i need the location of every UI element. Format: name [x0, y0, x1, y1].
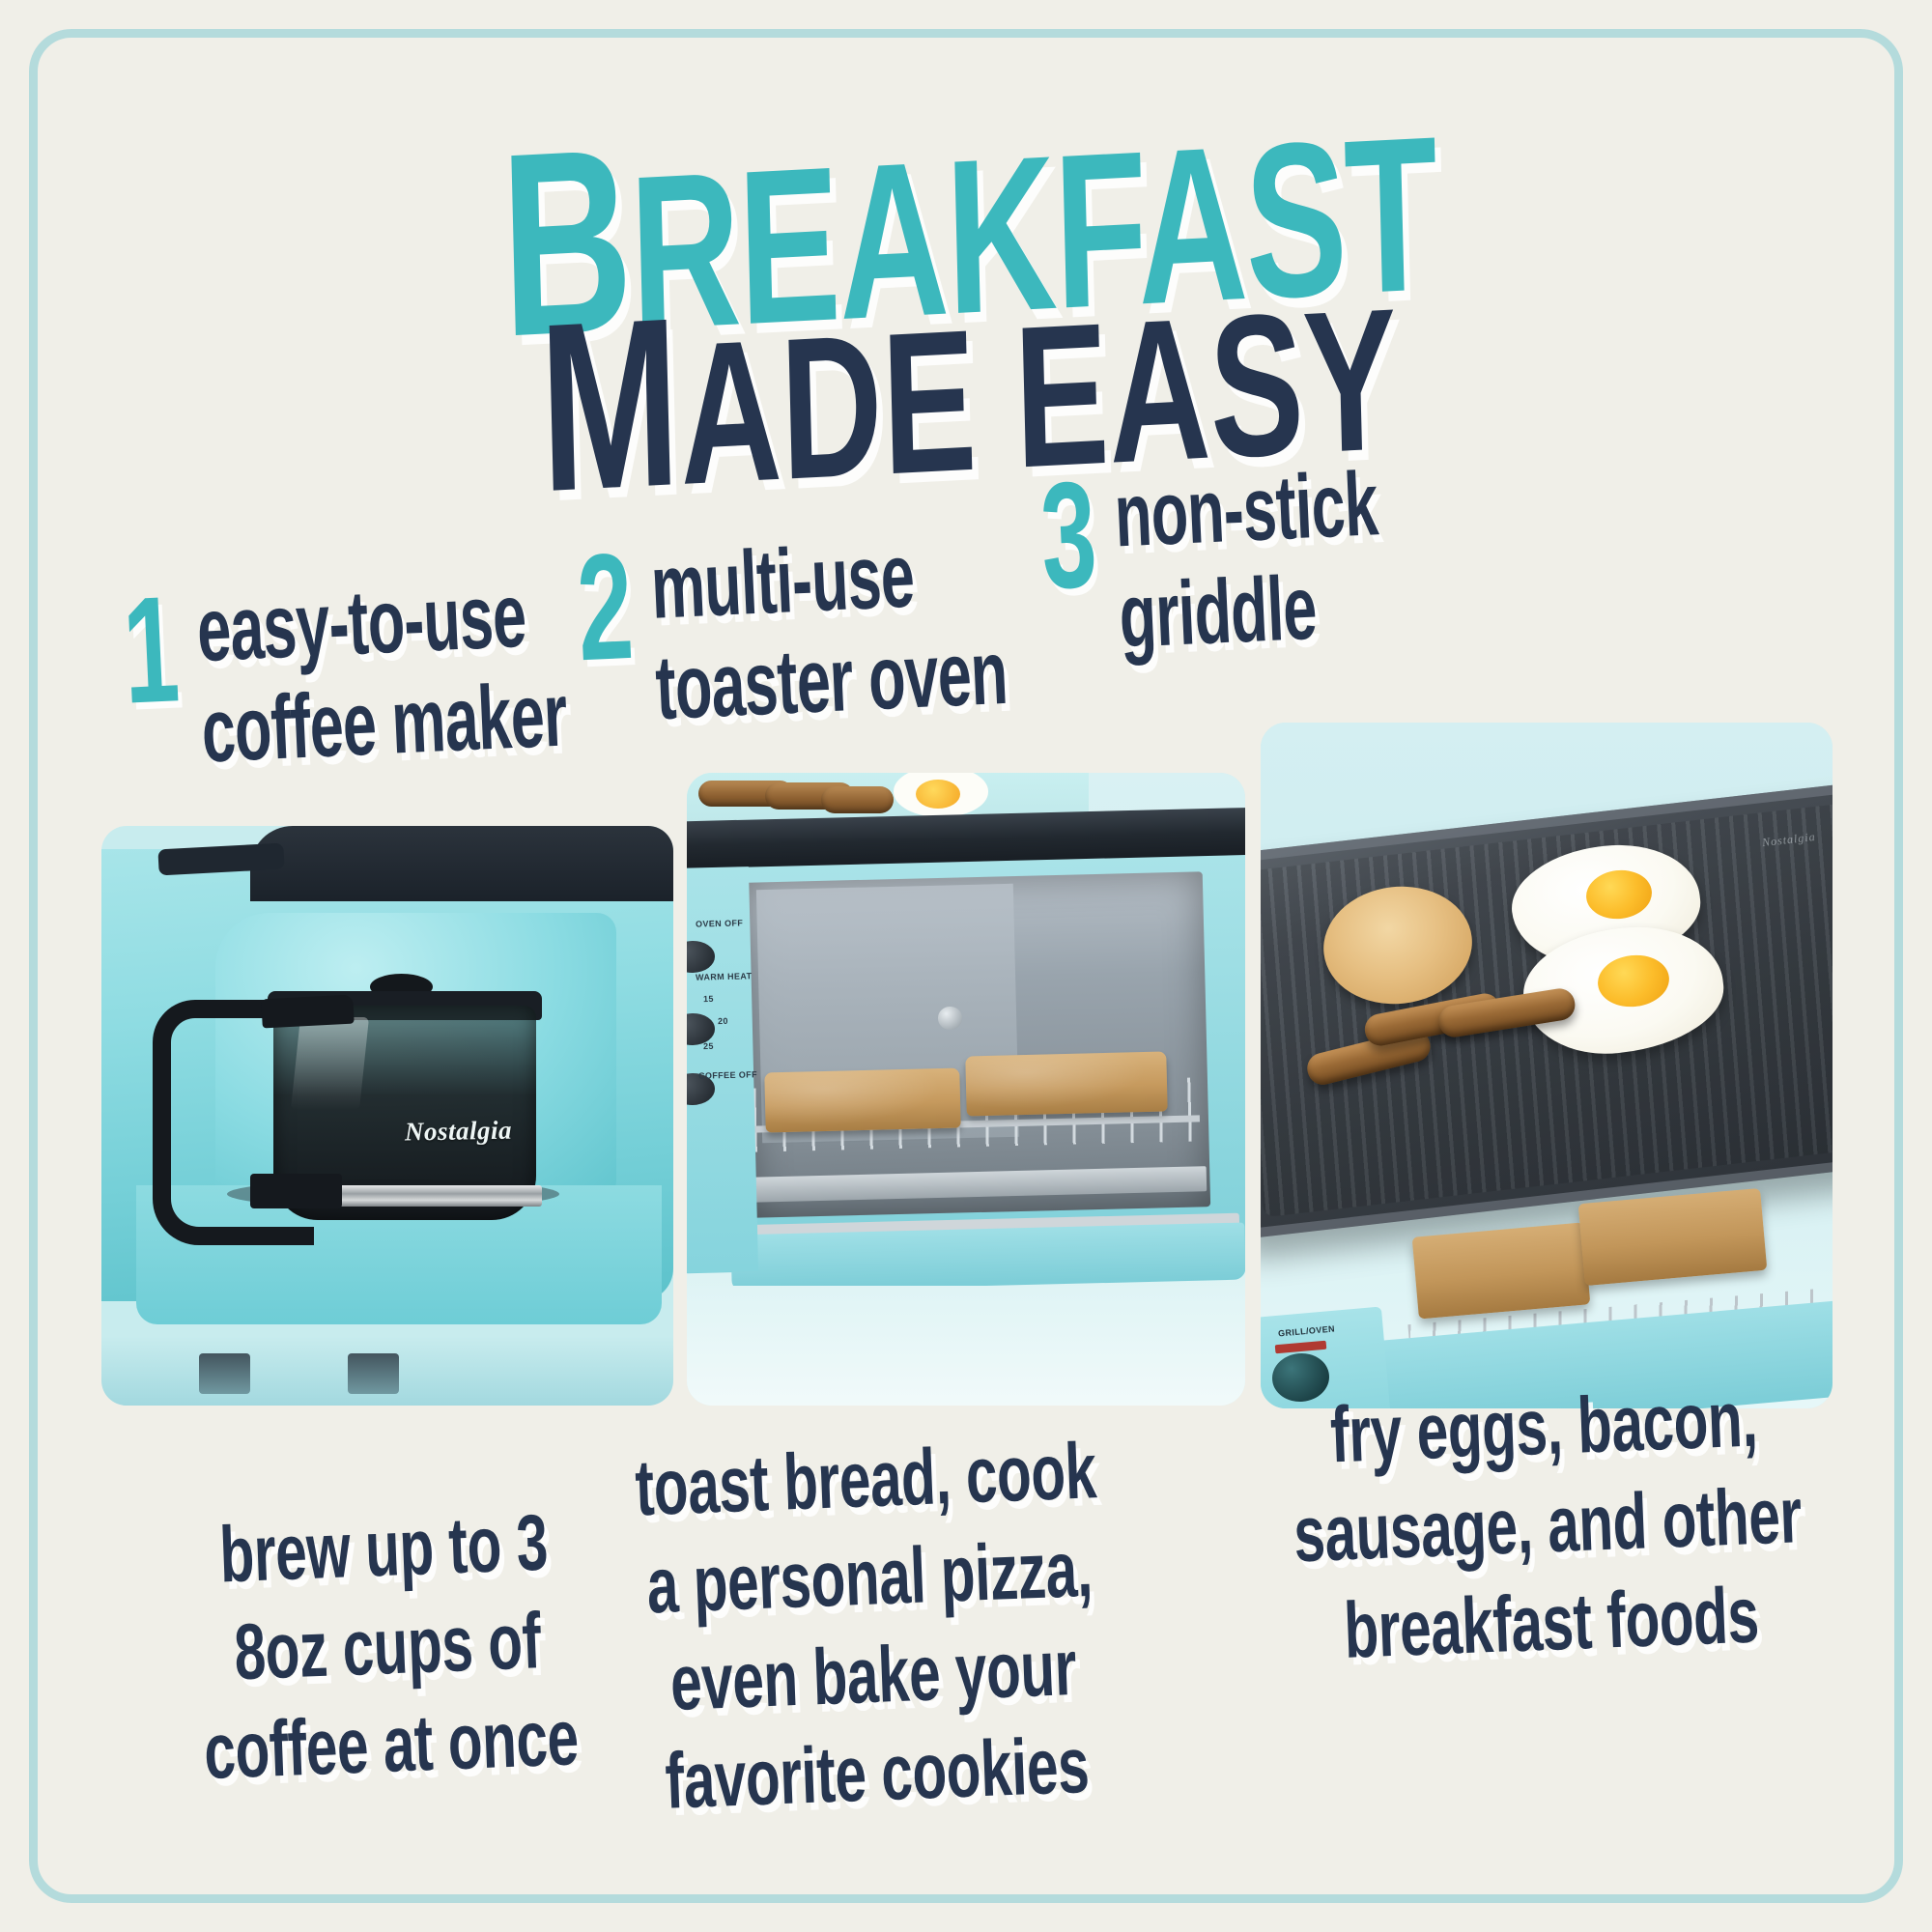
caption-text-2: toast bread, cook a personal pizza, even… [585, 1420, 1157, 1833]
feature-heading-1: 1 easy-to-use coffee maker [121, 561, 608, 733]
feature-label-1: easy-to-use coffee maker [195, 563, 569, 781]
coffee-maker-photo: Nostalgia [101, 826, 673, 1406]
toaster-oven-ground-reflection [687, 1286, 1245, 1406]
toast-slice [764, 1067, 961, 1132]
coffee-maker-handle-top-joint [261, 995, 354, 1029]
control-label-timer-15: 15 [703, 994, 714, 1004]
control-label-coffee-off: COFFEE OFF [697, 1069, 756, 1080]
coffee-maker-ground-shadow [101, 1336, 673, 1406]
page-title: BREAKFAST MADE EASY [0, 114, 1932, 423]
title-line2-capital: M [537, 268, 683, 542]
coffee-maker-top-lid [250, 826, 673, 901]
sausage-link [821, 786, 894, 813]
coffee-maker-handle-bottom-joint [250, 1174, 342, 1208]
toaster-oven-photo: OVEN OFF WARM HEAT 15 20 25 COFFEE OFF [687, 773, 1245, 1406]
nostalgia-brand-logo: Nostalgia [404, 1114, 576, 1147]
feature-caption-3: fry eggs, bacon, sausage, and other brea… [1215, 1400, 1880, 1651]
control-label-oven-off: OVEN OFF [696, 918, 743, 928]
control-label-timer-25: 25 [703, 1041, 714, 1051]
toast-slice [1411, 1223, 1589, 1320]
feature-label-3: non-stick griddle [1113, 453, 1384, 667]
feature-heading-3: 3 non-stick griddle [1038, 451, 1411, 618]
toaster-oven-open-door [731, 1222, 1245, 1292]
caption-text-3: fry eggs, bacon, sausage, and other brea… [1236, 1367, 1859, 1684]
feature-number-2: 2 [575, 537, 636, 678]
toast-slice [965, 1052, 1168, 1117]
toast-slice [1577, 1188, 1767, 1286]
feature-label-2: multi-use toaster oven [649, 521, 1009, 738]
feature-number-3: 3 [1038, 466, 1099, 607]
control-label-warm-heat: WARM HEAT [696, 972, 753, 982]
feature-heading-2: 2 multi-use toaster oven [575, 519, 1046, 691]
feature-number-1: 1 [121, 581, 182, 722]
control-label-timer-20: 20 [718, 1016, 728, 1026]
feature-caption-2: toast bread, cook a personal pizza, even… [566, 1464, 1177, 1789]
griddle-photo: Nostalgia GRILL/OVEN [1261, 723, 1833, 1408]
egg-yolk [916, 780, 960, 809]
